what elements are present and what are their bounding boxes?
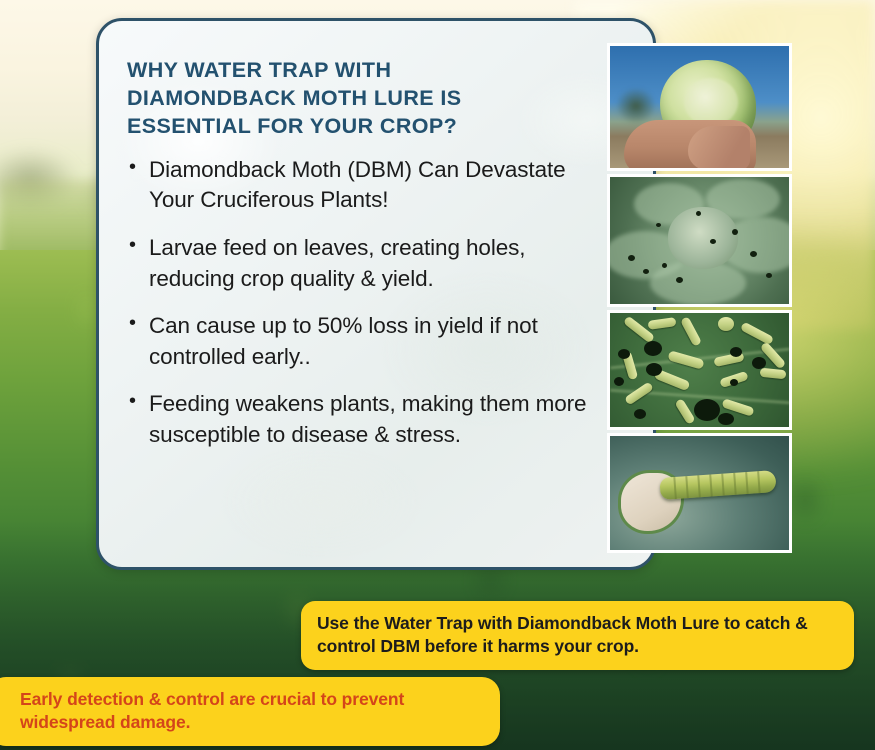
poster-root: Why Water Trap with Diamondback Moth Lur… <box>0 0 875 750</box>
photo4-larva-segment <box>757 471 761 493</box>
photo4-larva-segment <box>721 474 725 496</box>
photo1-fingers <box>688 126 750 170</box>
photo2-cabbage-head <box>668 207 738 269</box>
photo2-feeding-hole <box>750 251 757 257</box>
photo3-feeding-hole <box>644 341 662 356</box>
photo2-feeding-hole <box>643 269 649 274</box>
list-item: Can cause up to 50% loss in yield if not… <box>127 311 597 372</box>
photo3-feeding-hole <box>730 347 742 357</box>
benefit-list: Diamondback Moth (DBM) Can Devastate You… <box>127 155 597 451</box>
photo3-feeding-hole <box>730 379 738 386</box>
photo2-feeding-hole <box>656 223 661 227</box>
photo4-larva-segment <box>745 472 749 494</box>
photo4-larva-segment <box>709 474 713 496</box>
secondary-callout-text: Early detection & control are crucial to… <box>20 688 484 734</box>
photo4-larva-segment <box>733 473 737 495</box>
photo-larva-closeup <box>607 433 792 553</box>
primary-callout-banner: Use the Water Trap with Diamondback Moth… <box>301 601 854 670</box>
photo3-feeding-hole <box>718 413 734 425</box>
photo2-feeding-hole <box>766 273 772 278</box>
primary-callout-text: Use the Water Trap with Diamondback Moth… <box>317 612 838 658</box>
photo1-tree <box>616 88 656 124</box>
photo4-larva-segment <box>673 477 677 499</box>
photo3-feeding-hole <box>614 377 624 386</box>
photo-larvae-on-leaf <box>607 310 792 430</box>
photo4-larva-segment <box>685 476 689 498</box>
photo-cabbage-plant-holes <box>607 174 792 307</box>
list-item: Feeding weakens plants, making them more… <box>127 389 597 450</box>
photo2-feeding-hole <box>710 239 716 244</box>
photo4-larva-segment <box>697 475 701 497</box>
photo-strip <box>607 43 792 553</box>
photo3-feeding-hole <box>618 349 630 359</box>
photo3-larva <box>718 317 734 331</box>
photo2-feeding-hole <box>696 211 701 216</box>
secondary-callout-banner: Early detection & control are crucial to… <box>0 677 500 746</box>
photo2-feeding-hole <box>732 229 738 235</box>
photo2-feeding-hole <box>662 263 667 268</box>
list-item: Larvae feed on leaves, creating holes, r… <box>127 233 597 294</box>
photo3-feeding-hole <box>694 399 720 421</box>
photo3-feeding-hole <box>646 363 662 376</box>
photo2-feeding-hole <box>628 255 635 261</box>
list-item: Diamondback Moth (DBM) Can Devastate You… <box>127 155 597 216</box>
card-content: Why Water Trap with Diamondback Moth Lur… <box>127 57 597 451</box>
photo3-feeding-hole <box>634 409 646 419</box>
photo2-feeding-hole <box>676 277 683 283</box>
photo1-cabbage-core <box>684 78 738 126</box>
photo-cabbage-head-in-hand <box>607 43 792 171</box>
info-card: Why Water Trap with Diamondback Moth Lur… <box>96 18 656 570</box>
photo3-feeding-hole <box>752 357 766 369</box>
page-title: Why Water Trap with Diamondback Moth Lur… <box>127 57 527 141</box>
